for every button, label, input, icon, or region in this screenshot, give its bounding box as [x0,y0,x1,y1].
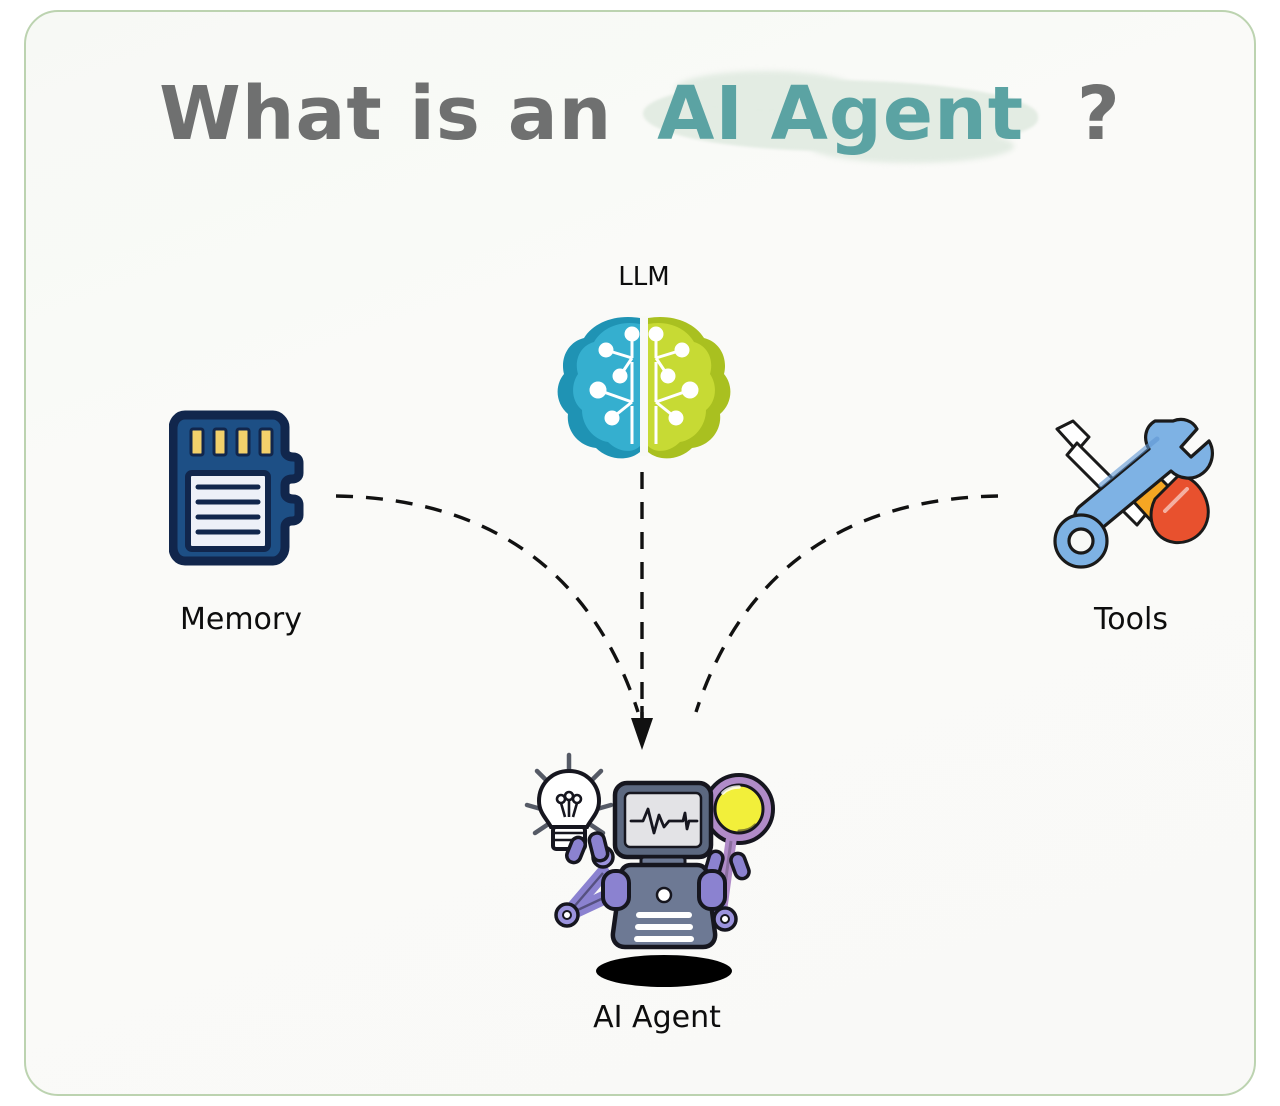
memory-card-label-area [188,473,268,549]
page-title-prefix: What is an [159,71,612,157]
node-agent-label: AI Agent [507,1000,807,1035]
wrench-screwdriver-icon [1041,415,1221,585]
connection-memory-to-agent [336,496,638,712]
page-title: What is an AI Agent ? [26,74,1254,155]
page-title-suffix: ? [1077,71,1121,157]
node-tools[interactable]: Tools [1001,407,1256,657]
robot-icon [507,747,807,997]
node-memory[interactable]: Memory [111,407,371,657]
node-memory-label: Memory [111,602,371,637]
connection-tools-to-agent [696,496,998,712]
diagram-card: What is an AI Agent ? LLM [24,10,1256,1096]
robot-shadow [596,955,732,987]
arrow-head-icon [631,718,653,750]
page-title-highlight: AI Agent [657,71,1024,157]
robot-head-screen [615,783,711,866]
node-llm[interactable]: LLM [514,262,774,482]
node-llm-label: LLM [514,262,774,292]
node-agent[interactable]: AI Agent [507,747,807,1047]
page-title-highlight-wrapper: AI Agent [643,74,1038,155]
memory-card-icon [169,407,309,567]
diagram-stage: What is an AI Agent ? LLM [26,12,1254,1094]
node-tools-label: Tools [1001,602,1256,637]
robot-body [603,865,725,947]
diagram-canvas: What is an AI Agent ? LLM [0,0,1280,1106]
brain-icon [554,306,734,466]
